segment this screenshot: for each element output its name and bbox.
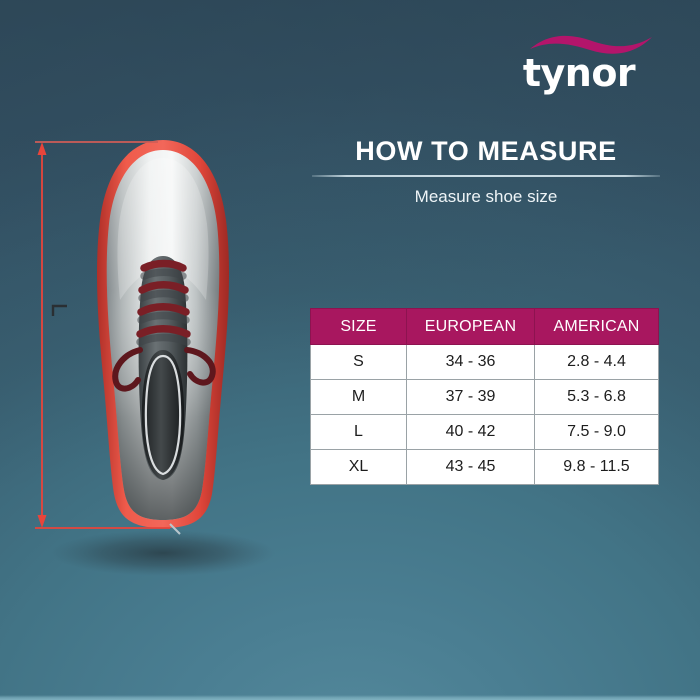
cell-size: M (311, 380, 407, 415)
page-subtitle: Measure shoe size (312, 186, 660, 208)
table-row: L 40 - 42 7.5 - 9.0 (311, 415, 659, 450)
table-header-row: SIZE EUROPEAN AMERICAN (311, 309, 659, 345)
shoe-opening (142, 350, 184, 480)
table-row: M 37 - 39 5.3 - 6.8 (311, 380, 659, 415)
cell-american: 9.8 - 11.5 (535, 450, 659, 485)
column-header-european: EUROPEAN (407, 309, 535, 345)
cell-european: 43 - 45 (407, 450, 535, 485)
measure-arrow-top (38, 142, 47, 155)
size-chart-page: tynor HOW TO MEASURE Measure shoe size (0, 0, 700, 700)
cell-european: 34 - 36 (407, 345, 535, 380)
cell-american: 2.8 - 4.4 (535, 345, 659, 380)
brand-wordmark: tynor (498, 50, 660, 96)
column-header-size: SIZE (311, 309, 407, 345)
cell-european: 40 - 42 (407, 415, 535, 450)
header: HOW TO MEASURE Measure shoe size (312, 134, 660, 208)
size-chart-table: SIZE EUROPEAN AMERICAN S 34 - 36 2.8 - 4… (310, 308, 659, 485)
cell-european: 37 - 39 (407, 380, 535, 415)
header-divider (312, 175, 660, 177)
shoe-diagram-svg (20, 128, 290, 578)
shoe-illustration (20, 128, 290, 578)
cell-size: L (311, 415, 407, 450)
table-row: XL 43 - 45 9.8 - 11.5 (311, 450, 659, 485)
measure-arrow-bottom (38, 515, 47, 528)
cell-american: 5.3 - 6.8 (535, 380, 659, 415)
cell-size: XL (311, 450, 407, 485)
cell-size: S (311, 345, 407, 380)
page-title: HOW TO MEASURE (312, 134, 660, 168)
measure-corner-marker (53, 306, 67, 316)
background-bottom-highlight (0, 695, 700, 700)
column-header-american: AMERICAN (535, 309, 659, 345)
cell-american: 7.5 - 9.0 (535, 415, 659, 450)
brand-logo: tynor (498, 28, 660, 102)
table-row: S 34 - 36 2.8 - 4.4 (311, 345, 659, 380)
shoe-drop-shadow (51, 530, 275, 576)
